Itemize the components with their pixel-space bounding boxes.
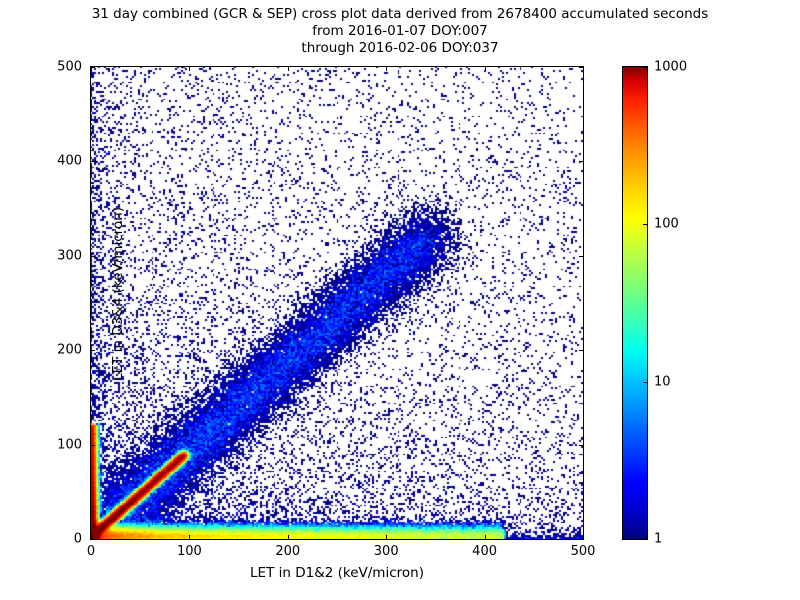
colorbar-tick-label: 10 (654, 374, 671, 389)
y-tick-mark (91, 161, 95, 162)
x-tick-mark-top (386, 67, 387, 71)
x-tick-mark-top (583, 67, 584, 71)
x-tick-label: 0 (87, 544, 95, 559)
x-tick-mark-top (288, 67, 289, 71)
colorbar-tick-label: 100 (654, 217, 679, 232)
title-line-1: 31 day combined (GCR & SEP) cross plot d… (0, 6, 800, 23)
y-tick-mark (91, 539, 95, 540)
y-tick-mark-right (579, 256, 583, 257)
x-tick-mark (583, 535, 584, 539)
y-tick-mark-right (579, 539, 583, 540)
colorbar-tick-label: 1 (654, 532, 662, 547)
colorbar (622, 66, 648, 540)
y-axis-label: LET in D3&4 (keV/micron) (110, 57, 126, 531)
chart-title: 31 day combined (GCR & SEP) cross plot d… (0, 6, 800, 57)
y-tick-mark (91, 256, 95, 257)
y-tick-label: 400 (30, 154, 82, 169)
x-tick-label: 400 (472, 544, 497, 559)
y-tick-label: 200 (30, 343, 82, 358)
colorbar-tick-label: 1000 (654, 60, 687, 75)
y-tick-label: 500 (30, 60, 82, 75)
figure-canvas: 31 day combined (GCR & SEP) cross plot d… (0, 0, 800, 600)
colorbar-tick-mark (643, 382, 647, 383)
y-tick-label: 0 (30, 532, 82, 547)
x-tick-mark (288, 535, 289, 539)
x-tick-mark (386, 535, 387, 539)
x-tick-label: 300 (374, 544, 399, 559)
x-tick-label: 500 (571, 544, 596, 559)
title-line-2: from 2016-01-07 DOY:007 (0, 23, 800, 40)
x-tick-mark-top (485, 67, 486, 71)
y-tick-mark-right (579, 67, 583, 68)
y-tick-label: 300 (30, 248, 82, 263)
y-tick-label: 100 (30, 437, 82, 452)
x-axis-label: LET in D1&2 (keV/micron) (90, 565, 584, 581)
colorbar-tick-mark (643, 67, 647, 68)
y-tick-mark (91, 67, 95, 68)
x-tick-mark (485, 535, 486, 539)
title-line-3: through 2016-02-06 DOY:037 (0, 40, 800, 57)
x-tick-mark (189, 535, 190, 539)
y-tick-mark-right (579, 350, 583, 351)
scatter-density-plot (91, 67, 583, 539)
y-tick-mark-right (579, 161, 583, 162)
colorbar-tick-mark (643, 539, 647, 540)
y-tick-mark-right (579, 445, 583, 446)
plot-area (90, 66, 584, 540)
y-tick-mark (91, 350, 95, 351)
x-tick-label: 100 (177, 544, 202, 559)
colorbar-tick-mark (643, 224, 647, 225)
x-tick-label: 200 (275, 544, 300, 559)
x-tick-mark-top (189, 67, 190, 71)
y-tick-mark (91, 445, 95, 446)
